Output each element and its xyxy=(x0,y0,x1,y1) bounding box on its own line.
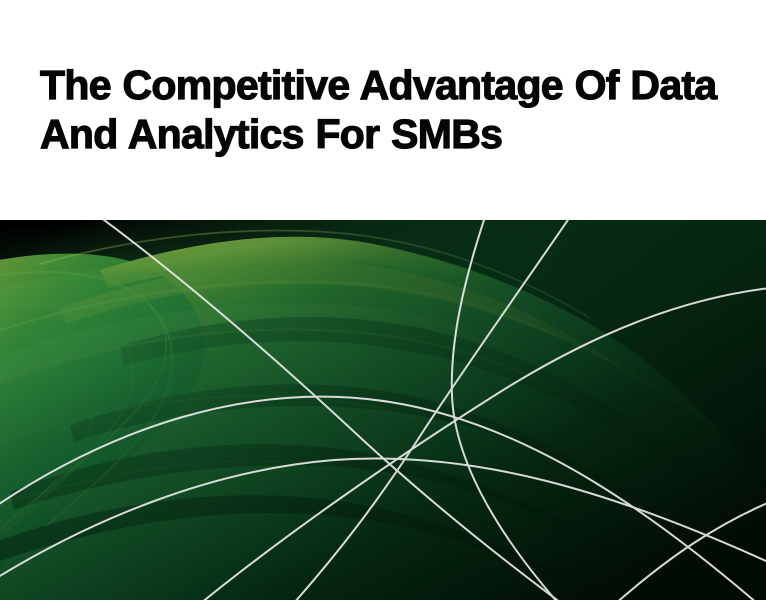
hero-artwork xyxy=(0,220,766,600)
green-ribbon-form xyxy=(0,220,766,600)
hero-image xyxy=(0,220,766,600)
ribbon-bottom-fade xyxy=(0,220,766,600)
title-block: The Competitive Advantage Of Data And An… xyxy=(0,0,766,220)
page-title: The Competitive Advantage Of Data And An… xyxy=(40,61,736,159)
article-header-page: The Competitive Advantage Of Data And An… xyxy=(0,0,766,600)
